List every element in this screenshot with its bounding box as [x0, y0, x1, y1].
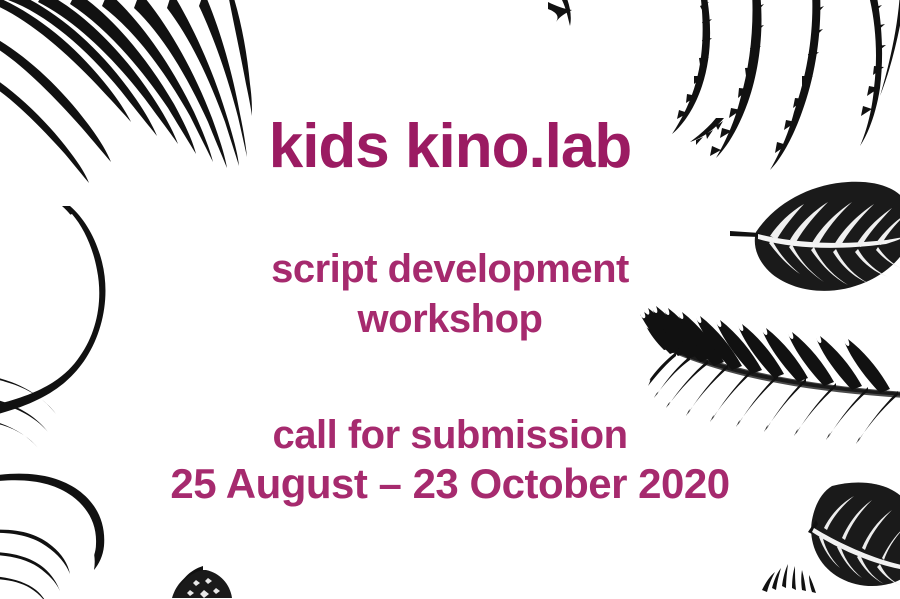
subtitle: script development workshop [0, 244, 900, 344]
call-for-submission-label: call for submission [0, 410, 900, 460]
submission-dates: 25 August – 23 October 2020 [0, 458, 900, 510]
poster-text-layer: kids kino.lab script development worksho… [0, 0, 900, 599]
subtitle-line-1: script development [271, 247, 629, 291]
page-title: kids kino.lab [0, 112, 900, 182]
subtitle-line-2: workshop [0, 294, 900, 344]
poster-canvas: kids kino.lab script development worksho… [0, 0, 900, 599]
